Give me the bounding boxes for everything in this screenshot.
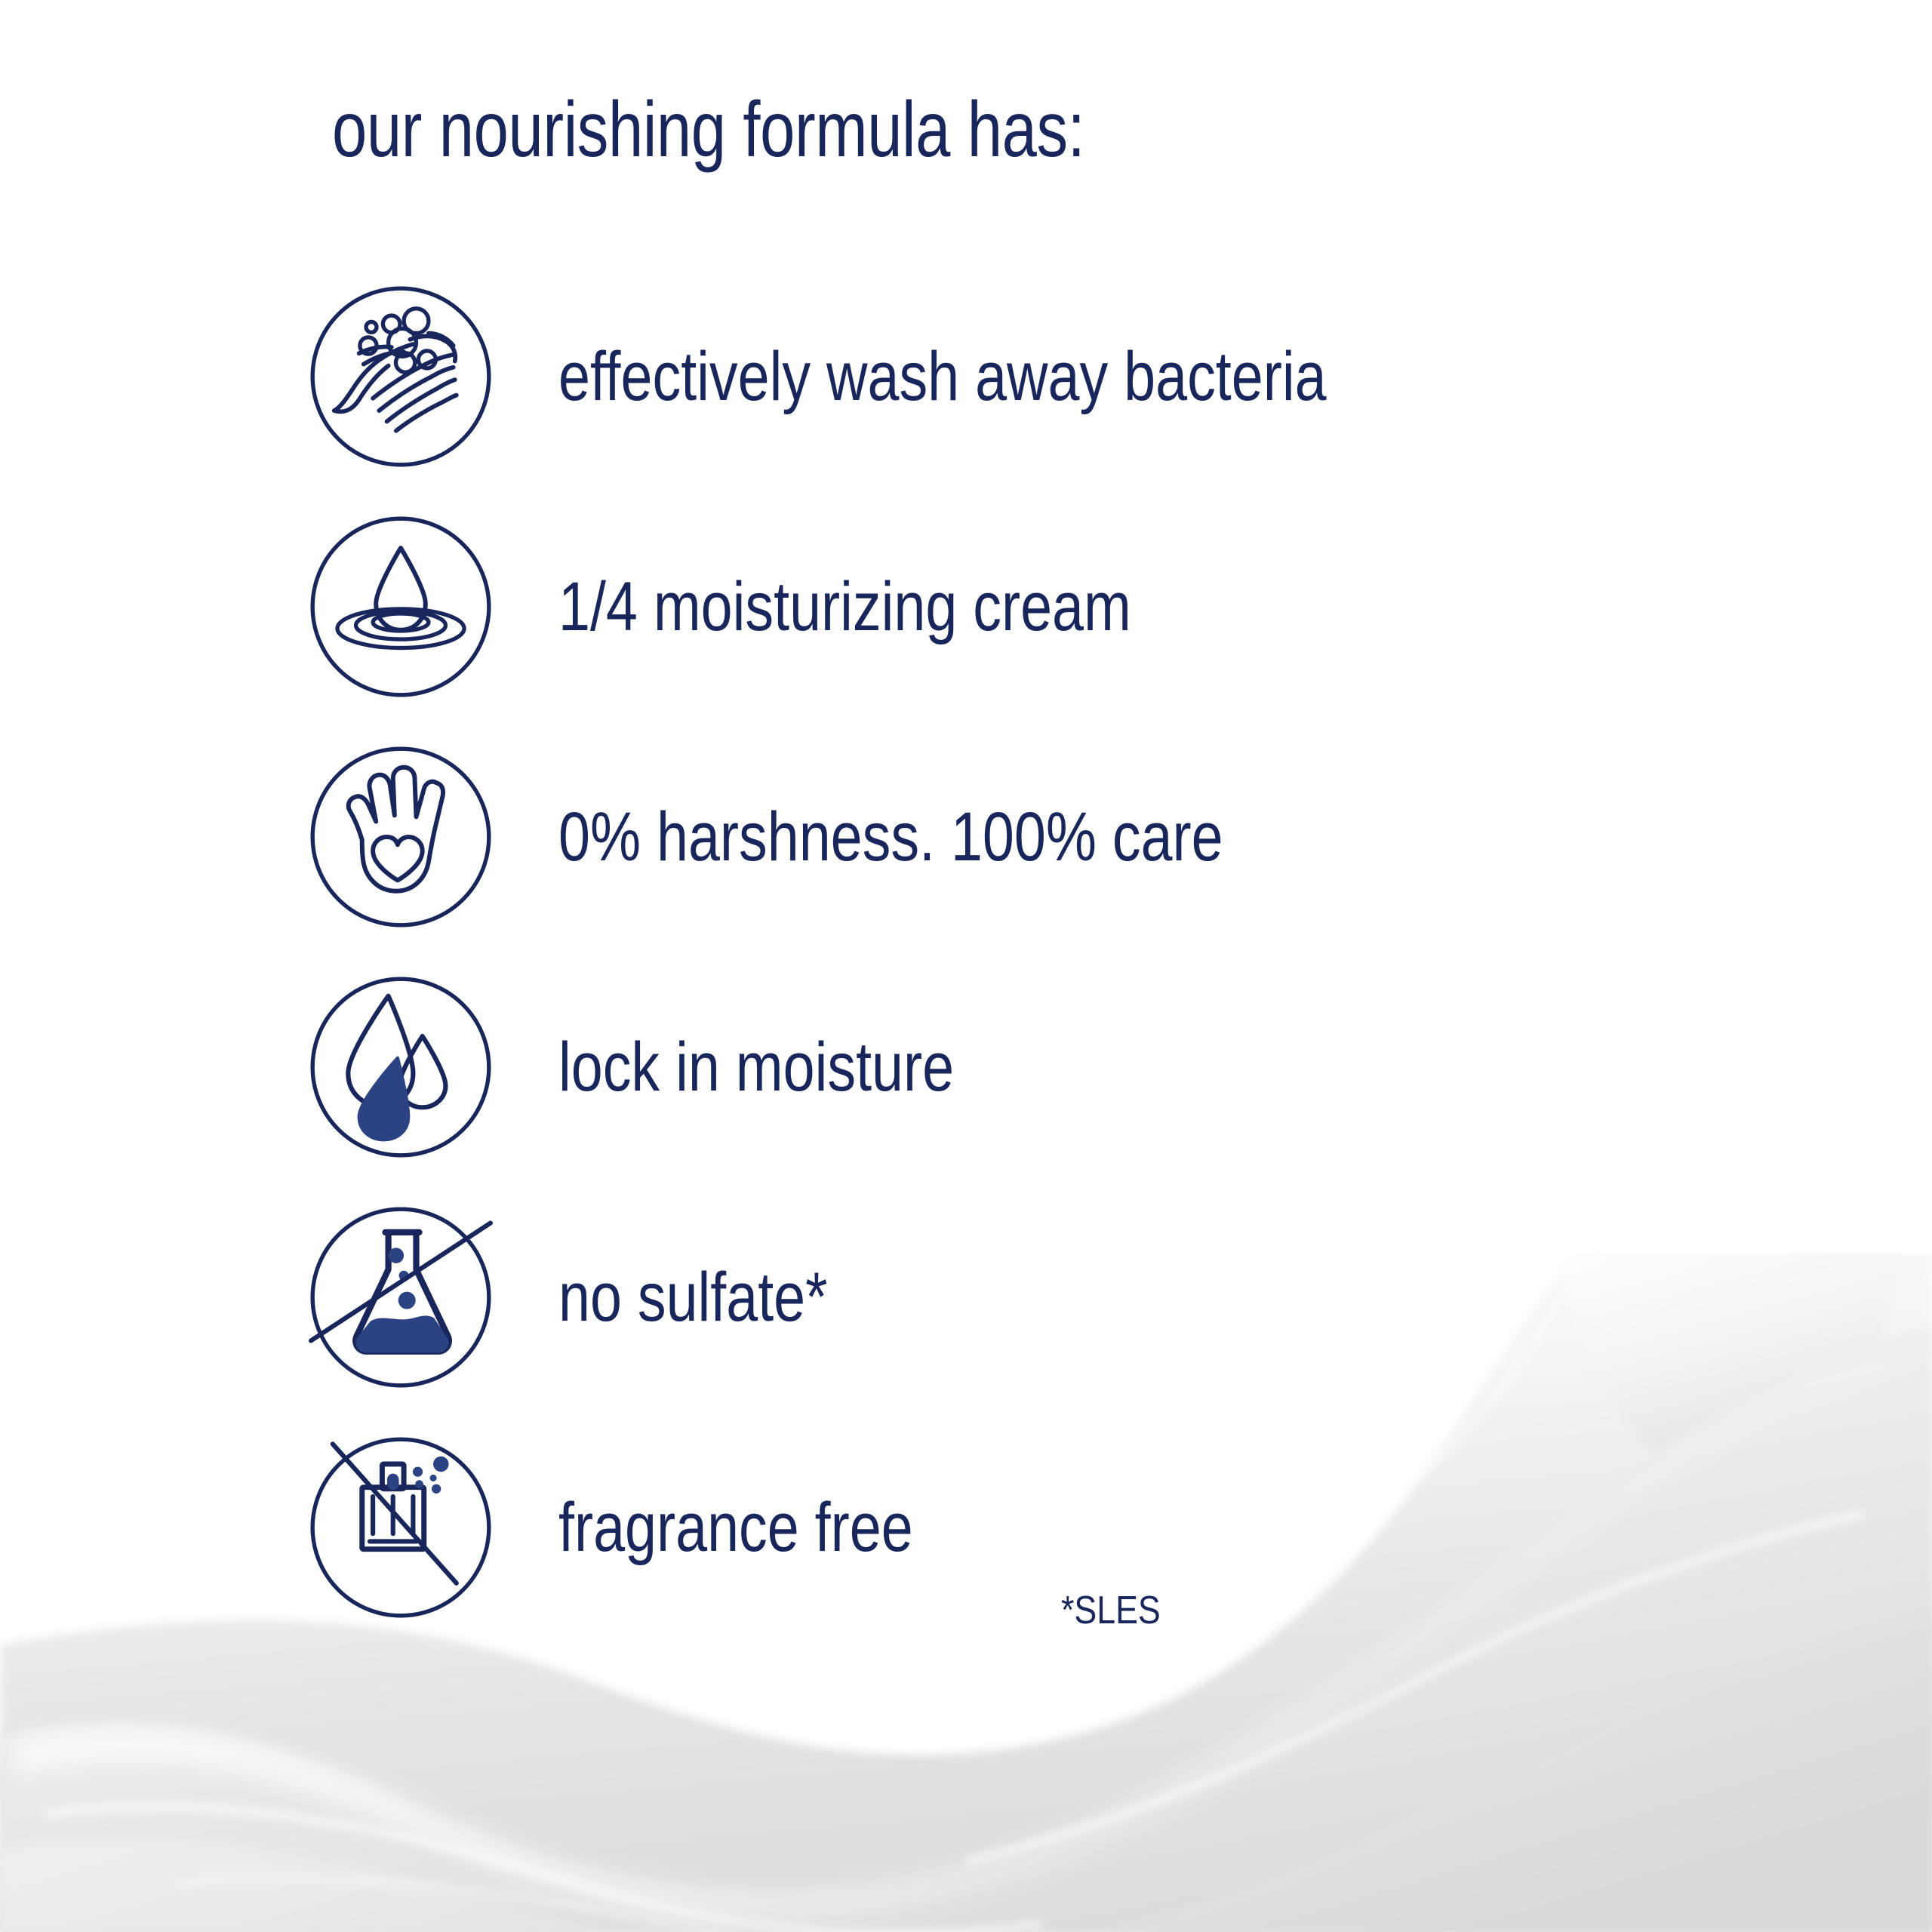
benefit-row: 0% harshness. 100% care bbox=[308, 744, 1742, 930]
three-droplets-icon bbox=[308, 974, 494, 1160]
no-flask-icon bbox=[308, 1204, 494, 1390]
benefit-label: 1/4 moisturizing cream bbox=[558, 572, 1131, 641]
benefit-row: effectively wash away bacteria bbox=[308, 284, 1742, 469]
benefit-label: fragrance free bbox=[558, 1493, 913, 1562]
hand-washing-bubbles-icon bbox=[308, 284, 494, 469]
benefit-label: effectively wash away bacteria bbox=[558, 342, 1327, 411]
benefit-label: no sulfate* bbox=[558, 1263, 828, 1332]
benefit-label: lock in moisture bbox=[558, 1032, 954, 1102]
benefit-row: fragrance free bbox=[308, 1435, 1742, 1620]
benefit-label: 0% harshness. 100% care bbox=[558, 802, 1223, 872]
footnote-sles: *SLES bbox=[1061, 1591, 1161, 1630]
benefit-row: 1/4 moisturizing cream bbox=[308, 514, 1742, 700]
no-fragrance-bottle-icon bbox=[308, 1435, 494, 1620]
water-drop-ripple-icon bbox=[308, 514, 494, 700]
benefit-row: no sulfate* bbox=[308, 1204, 1742, 1390]
hand-with-heart-icon bbox=[308, 744, 494, 930]
benefit-row: lock in moisture bbox=[308, 974, 1742, 1160]
infographic-canvas: our nourishing formula has: bbox=[0, 0, 1932, 1932]
page-title: our nourishing formula has: bbox=[332, 91, 1084, 169]
